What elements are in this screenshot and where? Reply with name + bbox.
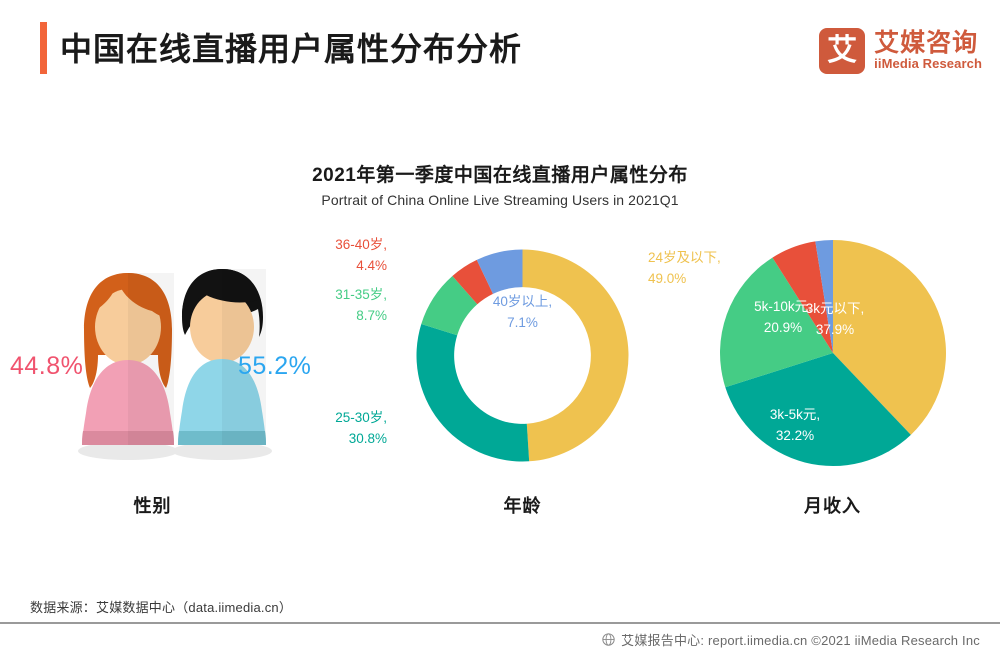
- page-title: 中国在线直播用户属性分布分析: [60, 24, 522, 70]
- female-percent: 44.8%: [10, 352, 83, 381]
- slice-24岁及以下: [523, 250, 629, 462]
- panel-label-gender: 性别: [80, 492, 225, 518]
- age-donut-chart: [395, 228, 650, 483]
- infographic-page: 中国在线直播用户属性分布分析 艾 艾媒咨询 iiMedia Research 2…: [0, 0, 1000, 650]
- accent-bar: [40, 22, 47, 74]
- footer-divider: [0, 622, 1000, 624]
- slice-25-30岁: [417, 324, 530, 461]
- panel-label-income: 月收入: [760, 492, 905, 518]
- footer-bar: 艾媒报告中心: report.iimedia.cn ©2021 iiMedia …: [0, 628, 1000, 650]
- logo-mark-icon: 艾: [819, 28, 865, 74]
- globe-icon: [602, 633, 615, 646]
- logo-text: 艾媒咨询 iiMedia Research: [874, 30, 982, 71]
- age-slice-label-2: 31-35岁,8.7%: [262, 285, 387, 327]
- logo-name-cn: 艾媒咨询: [874, 30, 982, 56]
- age-slice-label-1: 25-30岁,30.8%: [262, 408, 387, 450]
- header: 中国在线直播用户属性分布分析 艾 艾媒咨询 iiMedia Research: [0, 0, 1000, 100]
- panel-label-age: 年龄: [450, 492, 595, 518]
- chart-subtitle: Portrait of China Online Live Streaming …: [0, 192, 1000, 208]
- chart-title: 2021年第一季度中国在线直播用户属性分布: [0, 160, 1000, 187]
- logo: 艾 艾媒咨询 iiMedia Research: [819, 24, 982, 78]
- age-slice-label-4: 40岁以上,7.1%: [455, 292, 590, 334]
- income-slice-label-1: 3k-5k元,32.2%: [730, 405, 860, 447]
- age-slice-label-3: 36-40岁,4.4%: [262, 235, 387, 277]
- source-line: 数据来源：艾媒数据中心（data.iimedia.cn）: [30, 597, 292, 616]
- male-percent: 55.2%: [238, 352, 311, 381]
- footer-text: 艾媒报告中心: report.iimedia.cn ©2021 iiMedia …: [621, 630, 980, 649]
- income-slice-label-2: 5k-10k元,20.9%: [718, 297, 848, 339]
- logo-name-en: iiMedia Research: [874, 57, 982, 72]
- female-figure-icon: [82, 273, 174, 445]
